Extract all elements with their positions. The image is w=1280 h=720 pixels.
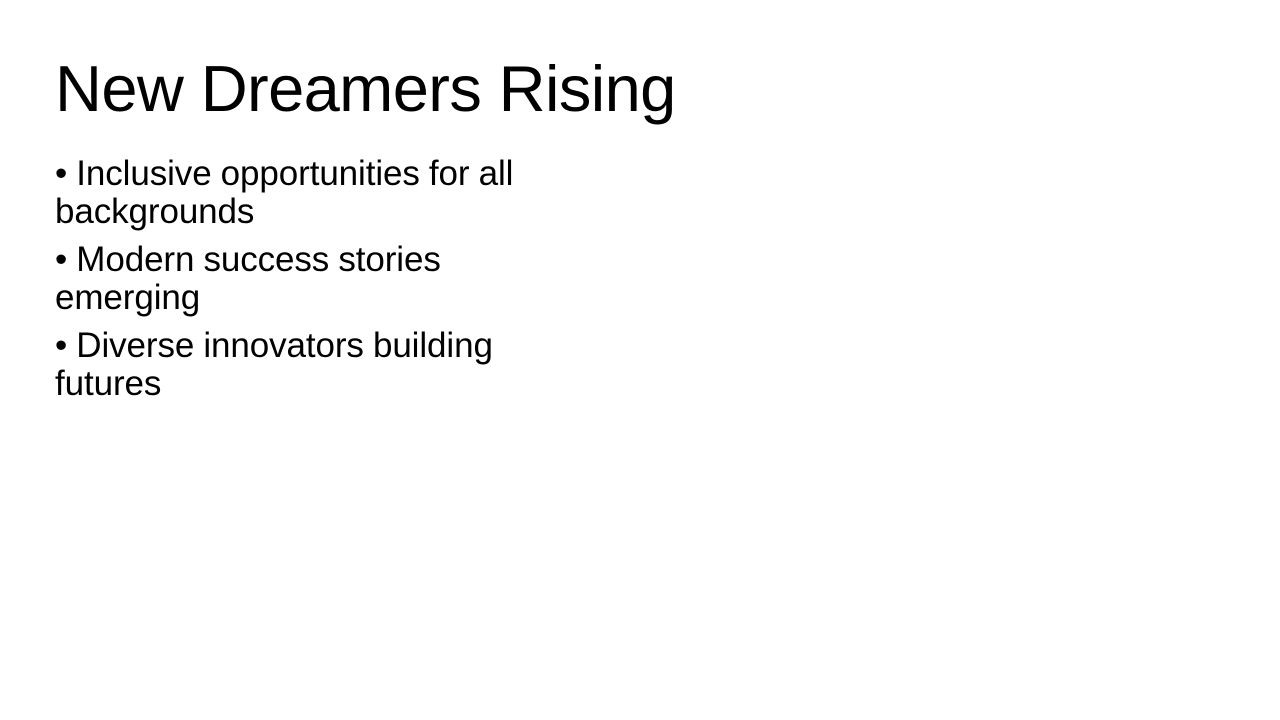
bullet-dot-icon: • xyxy=(55,154,67,193)
list-item-label: Diverse innovators building futures xyxy=(55,326,493,403)
page-title: New Dreamers Rising xyxy=(55,50,1155,128)
list-item: • Diverse innovators building futures xyxy=(55,327,525,403)
presentation-slide: New Dreamers Rising • Inclusive opportun… xyxy=(0,0,1280,720)
list-item-label: Modern success stories emerging xyxy=(55,240,441,317)
bullet-dot-icon: • xyxy=(55,326,67,365)
list-item: • Inclusive opportunities for all backgr… xyxy=(55,155,525,231)
bullet-dot-icon: • xyxy=(55,240,67,279)
bullet-list: • Inclusive opportunities for all backgr… xyxy=(55,155,525,403)
list-item: • Modern success stories emerging xyxy=(55,241,525,317)
list-item-label: Inclusive opportunities for all backgrou… xyxy=(55,154,513,231)
